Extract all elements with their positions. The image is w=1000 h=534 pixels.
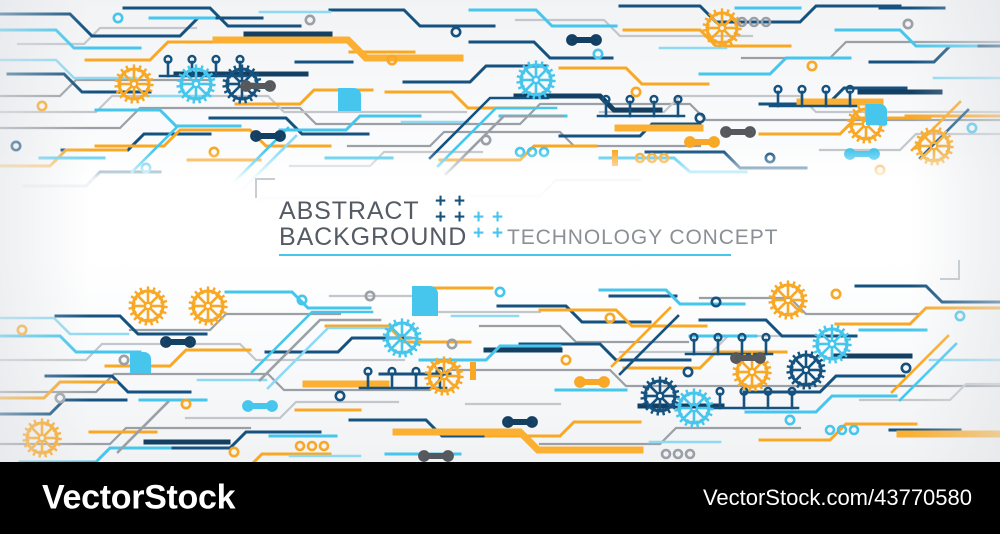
plus-icon: + (454, 208, 465, 227)
watermark-url: VectorStock.com/43770580 (703, 485, 972, 511)
image-canvas: ABSTRACT BACKGROUND + + + + + + + + TECH… (0, 0, 1000, 534)
corner-bracket-bottom-right-icon (940, 260, 960, 280)
tagline: TECHNOLOGY CONCEPT (507, 226, 778, 250)
plus-icon: + (435, 208, 446, 227)
circuit-band-bottom (0, 282, 1000, 462)
headline-block: ABSTRACT BACKGROUND + + + + + + + + TECH… (255, 178, 735, 270)
title-underline (279, 254, 731, 256)
brand-wordmark: VectorStock (42, 479, 235, 518)
plus-icon: + (473, 224, 484, 243)
watermark-footer: VectorStock VectorStock.com/43770580 (0, 462, 1000, 534)
corner-bracket-top-left-icon (255, 178, 275, 198)
plus-icon: + (492, 224, 503, 243)
